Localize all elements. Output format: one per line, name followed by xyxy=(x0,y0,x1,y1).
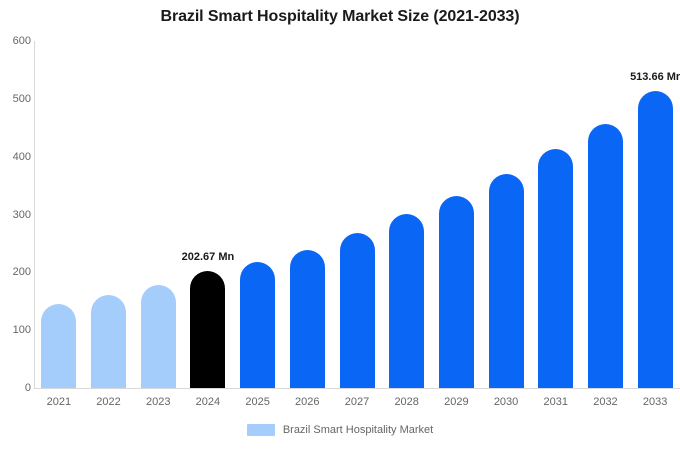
legend-label: Brazil Smart Hospitality Market xyxy=(283,424,433,436)
data-label-2033: 513.66 Mr xyxy=(630,71,680,83)
bar-2032[interactable] xyxy=(588,124,623,388)
x-axis-tick-label-2025: 2025 xyxy=(233,396,283,408)
x-axis-tick-label-2032: 2032 xyxy=(581,396,631,408)
bar-2025[interactable] xyxy=(240,262,275,388)
x-axis-tick-label-2028: 2028 xyxy=(382,396,432,408)
bar-2026[interactable] xyxy=(290,250,325,388)
bar-2021[interactable] xyxy=(41,304,76,388)
bar-2031[interactable] xyxy=(538,149,573,388)
legend-swatch xyxy=(247,424,275,436)
chart-legend: Brazil Smart Hospitality Market xyxy=(0,424,680,436)
bar-2033[interactable] xyxy=(638,91,673,388)
x-axis-tick-label-2023: 2023 xyxy=(133,396,183,408)
bars-layer: 2021202220232024202520262027202820292030… xyxy=(0,0,680,450)
x-axis-tick-label-2033: 2033 xyxy=(630,396,680,408)
bar-2028[interactable] xyxy=(389,214,424,388)
bar-2024[interactable] xyxy=(190,271,225,388)
x-axis-tick-label-2021: 2021 xyxy=(34,396,84,408)
chart-container: Brazil Smart Hospitality Market Size (20… xyxy=(0,0,680,450)
x-axis-tick-label-2024: 2024 xyxy=(183,396,233,408)
bar-2029[interactable] xyxy=(439,196,474,388)
bar-2030[interactable] xyxy=(489,174,524,388)
bar-2022[interactable] xyxy=(91,295,126,388)
x-axis-tick-label-2029: 2029 xyxy=(432,396,482,408)
data-label-2024: 202.67 Mn xyxy=(182,251,235,263)
x-axis-tick-label-2030: 2030 xyxy=(481,396,531,408)
x-axis-tick-label-2031: 2031 xyxy=(531,396,581,408)
bar-2027[interactable] xyxy=(340,233,375,388)
x-axis-tick-label-2026: 2026 xyxy=(282,396,332,408)
x-axis-tick-label-2027: 2027 xyxy=(332,396,382,408)
bar-2023[interactable] xyxy=(141,285,176,388)
x-axis-tick-label-2022: 2022 xyxy=(84,396,134,408)
